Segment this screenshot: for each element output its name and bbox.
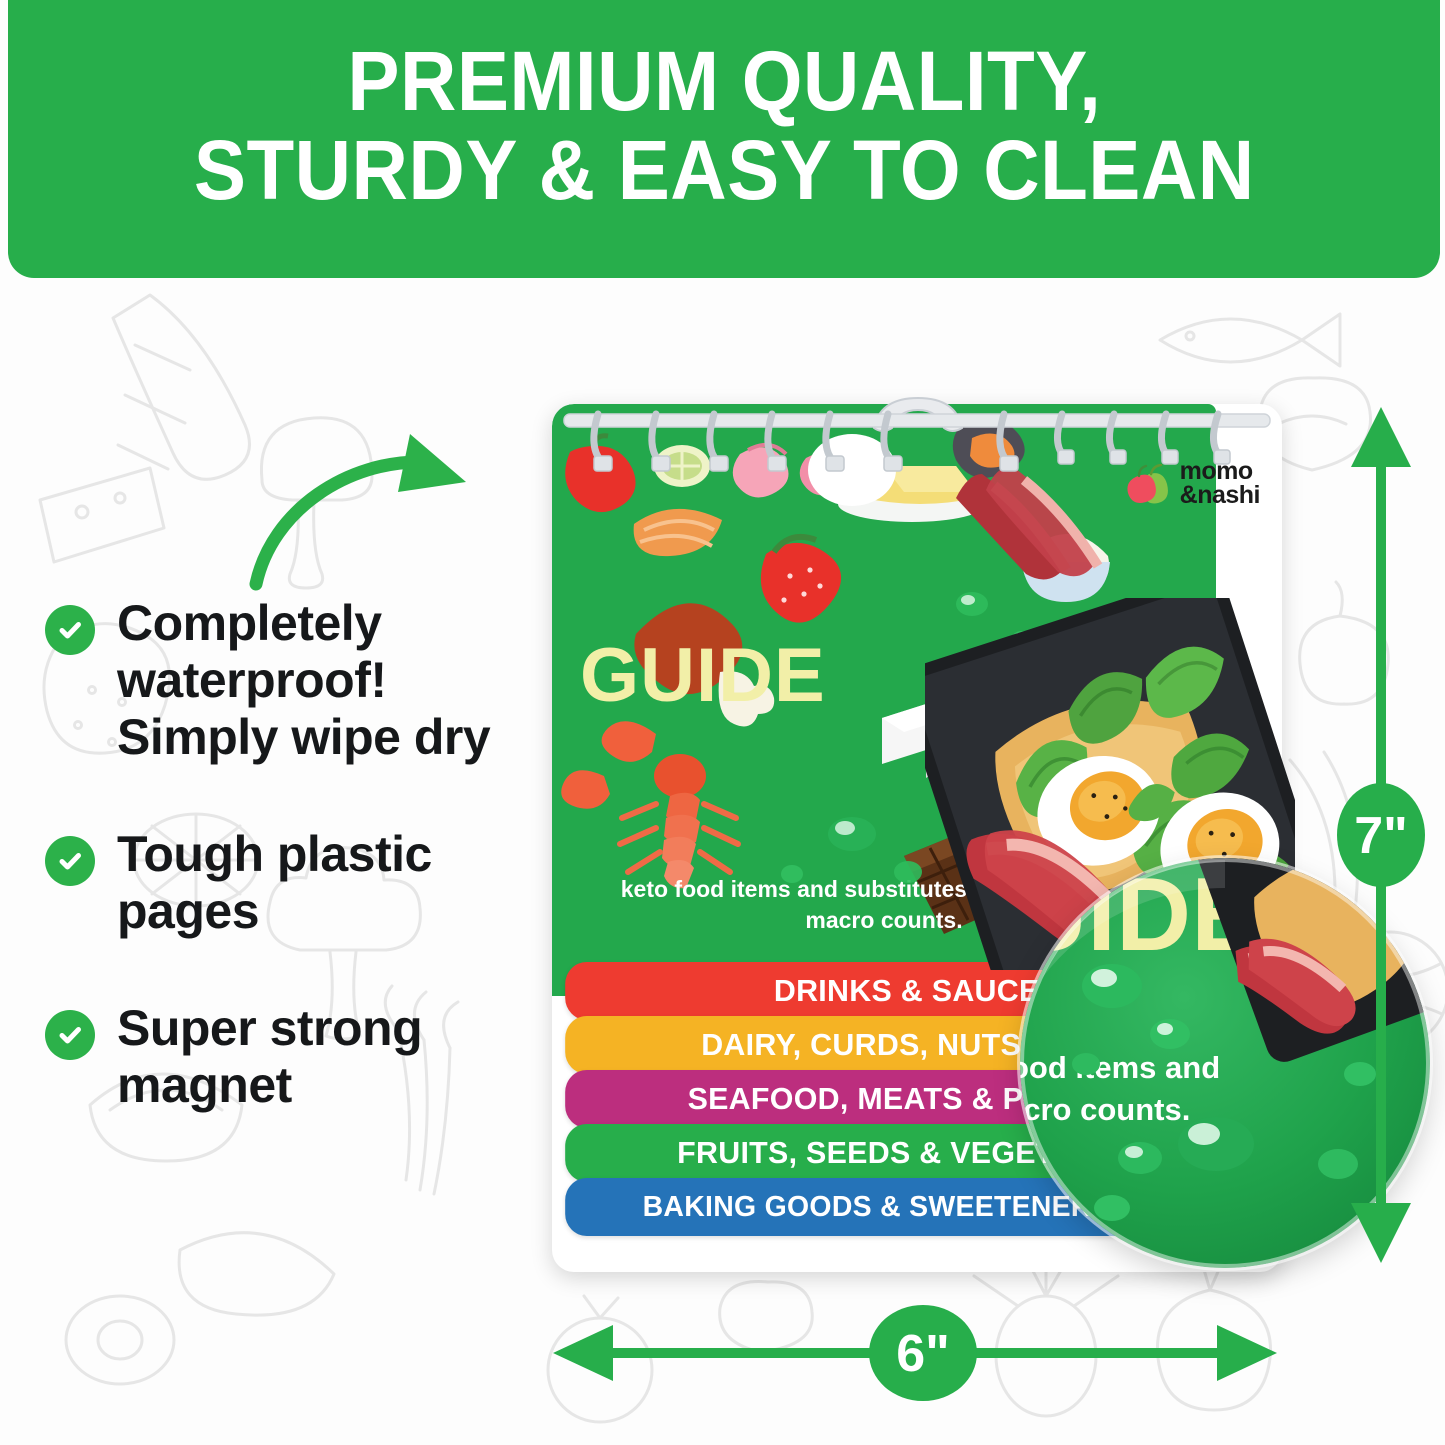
- feature-label: Super strong magnet: [117, 1000, 515, 1114]
- height-dimension-label: 7": [1354, 807, 1408, 865]
- peach-and-pear-icon: [1125, 464, 1171, 504]
- svg-text:ood items and: ood items and: [1020, 1050, 1220, 1085]
- feature-item-waterproof: Completely waterproof! Simply wipe dry: [45, 595, 515, 766]
- width-dimension-arrow: 6": [545, 1305, 1285, 1425]
- svg-text:acro counts.: acro counts.: [1020, 1092, 1190, 1127]
- feature-item-strong-magnet: Super strong magnet: [45, 1000, 515, 1114]
- brand-logo: momo &nashi: [1125, 460, 1260, 508]
- width-dimension-label: 6": [896, 1325, 950, 1383]
- feature-list: Completely waterproof! Simply wipe dry T…: [45, 595, 515, 1174]
- feature-label: Completely waterproof! Simply wipe dry: [117, 595, 515, 766]
- product-notebook: GUIDE keto food items and substitutes wi…: [552, 392, 1282, 1272]
- brand-name: momo &nashi: [1180, 460, 1260, 508]
- height-dimension-arrow: 7": [1335, 395, 1435, 1275]
- check-circle-icon: [45, 836, 95, 886]
- check-circle-icon: [45, 605, 95, 655]
- feature-label: Tough plastic pages: [117, 826, 515, 940]
- curved-arrow-icon: [228, 432, 493, 607]
- banner-headline-line2: STURDY & EASY TO CLEAN: [194, 126, 1255, 215]
- brand-name-line2: &nashi: [1180, 484, 1260, 508]
- header-banner: PREMIUM QUALITY, STURDY & EASY TO CLEAN: [8, 0, 1440, 278]
- feature-item-tough-pages: Tough plastic pages: [45, 826, 515, 940]
- banner-headline-line1: PREMIUM QUALITY,: [347, 37, 1101, 126]
- check-circle-icon: [45, 1010, 95, 1060]
